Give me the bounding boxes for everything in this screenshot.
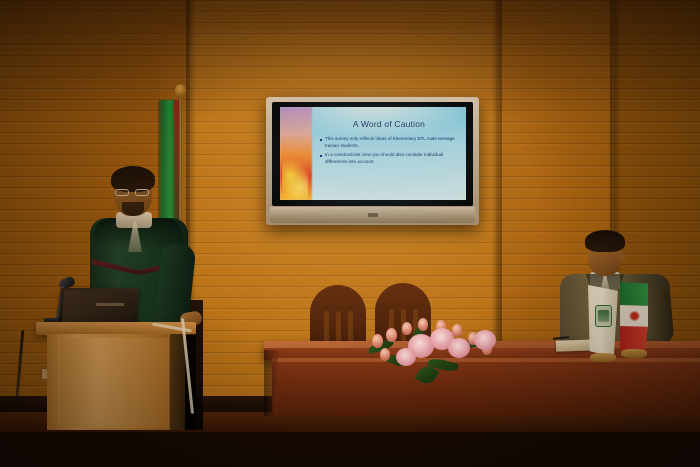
eyeglasses-lens-left [115, 189, 129, 196]
lily-flower [396, 348, 416, 366]
slide-flame-spark [282, 159, 308, 199]
tv-screen: A Word of Caution This survey only refle… [280, 107, 466, 200]
rose-bud [418, 318, 428, 331]
podium-front-panel [58, 338, 170, 428]
flag-stand [621, 349, 647, 358]
chair [310, 285, 366, 347]
slide-title: A Word of Caution [319, 119, 459, 129]
tv-brand-logo [368, 213, 378, 217]
lily-flower [474, 330, 496, 350]
hair [585, 230, 625, 252]
university-desk-flag [588, 285, 618, 363]
rose-bud [380, 348, 390, 361]
iran-emblem-icon [629, 311, 640, 321]
rose-bud [386, 328, 397, 342]
flower-arrangement [366, 316, 508, 378]
iran-desk-flag [620, 282, 648, 362]
beard [122, 202, 144, 216]
plasma-television: A Word of Caution This survey only refle… [266, 97, 479, 225]
podium-right-shadow [170, 334, 196, 430]
flag-green-band [620, 282, 648, 306]
photograph: A Word of Caution This survey only refle… [0, 0, 700, 467]
slide-bullet: This survey only reflects ideas of Eleme… [319, 136, 459, 149]
slide-bullet: In a constructivist view you should also… [319, 152, 459, 165]
laptop-highlight [96, 303, 124, 306]
caption-bar: www.guilan.ac.ir / ۱۳۸۶ آذر برگزاری هفته… [0, 425, 700, 467]
university-emblem-inner [598, 310, 609, 322]
slide-content: A Word of Caution This survey only refle… [313, 107, 466, 200]
eyeglasses-lens-right [135, 189, 149, 196]
table-left-side [264, 350, 278, 416]
lily-flower [448, 338, 470, 358]
ear [618, 252, 625, 262]
flag-stand [590, 353, 616, 362]
laptop-screen-back [62, 291, 136, 324]
rose-bud [402, 322, 412, 335]
tv-bezel-inner: A Word of Caution This survey only refle… [272, 102, 473, 206]
flag-finial-icon [175, 84, 186, 97]
rose-bud [372, 334, 383, 348]
